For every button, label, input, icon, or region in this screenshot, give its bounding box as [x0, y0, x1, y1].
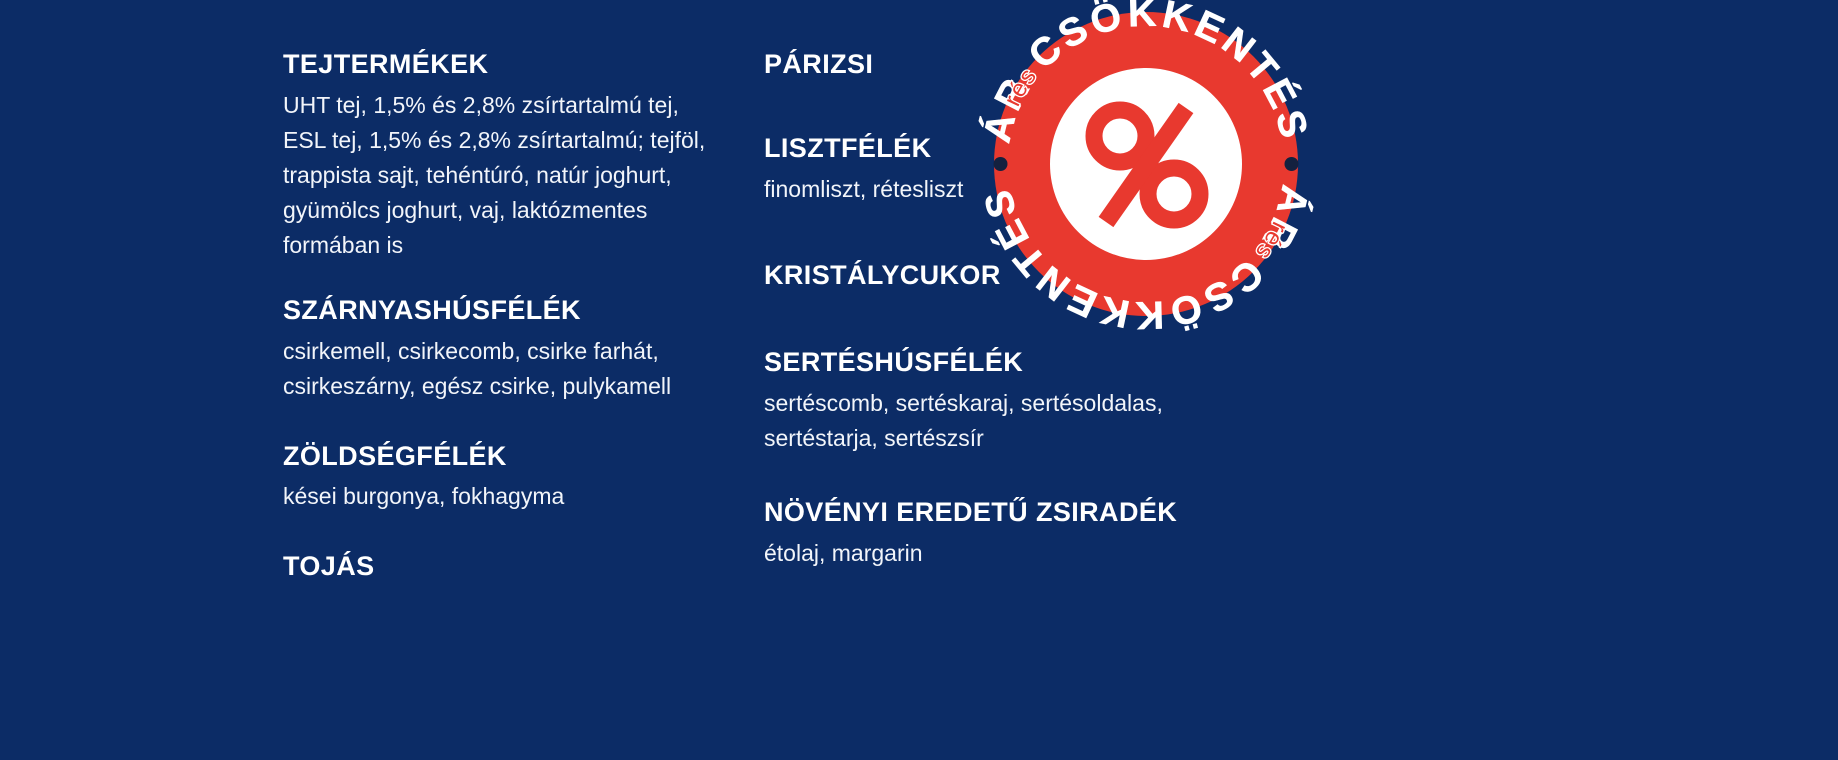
group-items-zoldsegfelek: kései burgonya, fokhagyma	[283, 479, 723, 514]
product-group-zoldsegfelek: ZÖLDSÉGFÉLÉK kései burgonya, fokhagyma	[283, 440, 723, 515]
product-group-tojas: TOJÁS	[283, 550, 723, 583]
group-items-tejtermekek: UHT tej, 1,5% és 2,8% zsírtartalmú tej, …	[283, 88, 723, 263]
group-title-serteshusfelek: SERTÉSHÚSFÉLÉK	[764, 346, 1234, 379]
group-items-serteshusfelek: sertéscomb, sertéskaraj, sertésoldalas, …	[764, 386, 1234, 456]
percent-discount-stamp-icon: ÁR rés CSÖKKENTÉS ÁR rés	[990, 8, 1302, 320]
group-title-zoldsegfelek: ZÖLDSÉGFÉLÉK	[283, 440, 723, 473]
product-column-left: TEJTERMÉKEK UHT tej, 1,5% és 2,8% zsírta…	[283, 48, 723, 590]
group-items-novenyi-eredetu-zsiradek: étolaj, margarin	[764, 536, 1234, 571]
group-title-novenyi-eredetu-zsiradek: NÖVÉNYI EREDETŰ ZSIRADÉK	[764, 496, 1234, 529]
promo-poster: TEJTERMÉKEK UHT tej, 1,5% és 2,8% zsírta…	[0, 0, 1838, 760]
group-title-tojas: TOJÁS	[283, 550, 723, 583]
product-group-szarnyashusfelek: SZÁRNYASHÚSFÉLÉK csirkemell, csirkecomb,…	[283, 294, 723, 404]
group-items-szarnyashusfelek: csirkemell, csirkecomb, csirke farhát, c…	[283, 334, 723, 404]
product-group-serteshusfelek: SERTÉSHÚSFÉLÉK sertéscomb, sertéskaraj, …	[764, 346, 1234, 456]
product-group-tejtermekek: TEJTERMÉKEK UHT tej, 1,5% és 2,8% zsírta…	[283, 48, 723, 263]
badge-separator-dot-right	[1285, 157, 1299, 171]
badge-separator-dot-left	[994, 157, 1008, 171]
product-group-novenyi-eredetu-zsiradek: NÖVÉNYI EREDETŰ ZSIRADÉK étolaj, margari…	[764, 496, 1234, 571]
group-title-tejtermekek: TEJTERMÉKEK	[283, 48, 723, 81]
group-title-szarnyashusfelek: SZÁRNYASHÚSFÉLÉK	[283, 294, 723, 327]
